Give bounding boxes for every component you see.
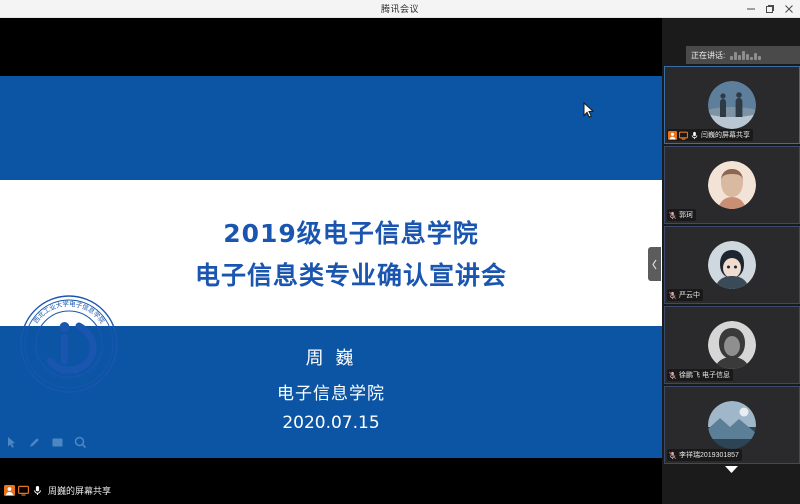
close-button[interactable]	[779, 0, 798, 18]
scroll-down-button[interactable]	[662, 458, 800, 480]
zoom-icon[interactable]	[73, 435, 88, 450]
participant-name: 严云中	[679, 290, 700, 300]
screen-share-icon	[679, 131, 688, 140]
participants-sidebar: 正在讲话: 闫巍的屏幕共享	[662, 18, 800, 504]
participant-nametag: 闫巍的屏幕共享	[667, 129, 753, 141]
participant-tile[interactable]: 严云中	[664, 226, 800, 304]
presentation-slide: 1958 西北工业大学电子信息学院 SCHOOL OF ELECTRONICS …	[0, 76, 662, 458]
screen-share-icon	[18, 485, 29, 496]
microphone-icon	[32, 485, 43, 496]
participant-name: 徐鹏飞 电子信息	[679, 370, 730, 380]
window-title-bar: 腾讯会议	[0, 0, 800, 18]
slide-title-line-1: 2019级电子信息学院	[223, 214, 479, 250]
window-controls	[741, 0, 798, 18]
speaking-indicator: 正在讲话:	[686, 46, 800, 64]
speaking-label: 正在讲话:	[691, 50, 725, 61]
microphone-muted-icon	[668, 211, 677, 220]
participant-tile[interactable]: 郭珂	[664, 146, 800, 224]
ppt-presenter-toolbar[interactable]	[4, 435, 88, 450]
pointer-icon[interactable]	[4, 435, 19, 450]
participant-nametag: 严云中	[667, 289, 703, 301]
minimize-button[interactable]	[741, 0, 760, 18]
avatar	[708, 321, 756, 369]
bottom-status-bar: 周巍的屏幕共享	[0, 476, 662, 504]
slide-date: 2020.07.15	[282, 413, 379, 433]
participant-name: 郭珂	[679, 210, 693, 220]
shared-screen-stage[interactable]: 1958 西北工业大学电子信息学院 SCHOOL OF ELECTRONICS …	[0, 18, 662, 476]
slide-title-block: 2019级电子信息学院 电子信息类专业确认宣讲会	[0, 180, 662, 326]
microphone-muted-icon	[668, 371, 677, 380]
participant-nametag: 徐鹏飞 电子信息	[667, 369, 733, 381]
slide-presenter-name: 周 巍	[306, 344, 357, 370]
participant-tiles[interactable]: 闫巍的屏幕共享 郭珂	[664, 66, 800, 476]
sidebar-collapse-handle[interactable]	[648, 247, 661, 281]
participant-nametag: 郭珂	[667, 209, 696, 221]
avatar	[708, 81, 756, 129]
slide-organization: 电子信息学院	[277, 379, 385, 404]
participant-name: 闫巍的屏幕共享	[701, 130, 750, 140]
avatar	[708, 241, 756, 289]
slides-icon[interactable]	[50, 435, 65, 450]
slide-title-line-2: 电子信息类专业确认宣讲会	[195, 256, 507, 292]
share-user-icon	[668, 131, 677, 140]
participant-tile[interactable]: 李祥瑞2019301857	[664, 386, 800, 464]
microphone-icon	[690, 131, 699, 140]
pen-icon[interactable]	[27, 435, 42, 450]
audio-wave-icon	[730, 50, 761, 60]
participant-tile[interactable]: 徐鹏飞 电子信息	[664, 306, 800, 384]
microphone-muted-icon	[668, 291, 677, 300]
avatar	[708, 161, 756, 209]
app-title: 腾讯会议	[381, 2, 419, 15]
share-user-icon	[4, 485, 15, 496]
share-status-text: 周巍的屏幕共享	[48, 484, 111, 497]
tencent-meeting-window: 腾讯会议	[0, 0, 800, 504]
participant-tile[interactable]: 闫巍的屏幕共享	[664, 66, 800, 144]
slide-subtitle-block: 周 巍 电子信息学院 2020.07.15	[0, 344, 662, 433]
avatar	[708, 401, 756, 449]
restore-button[interactable]	[760, 0, 779, 18]
